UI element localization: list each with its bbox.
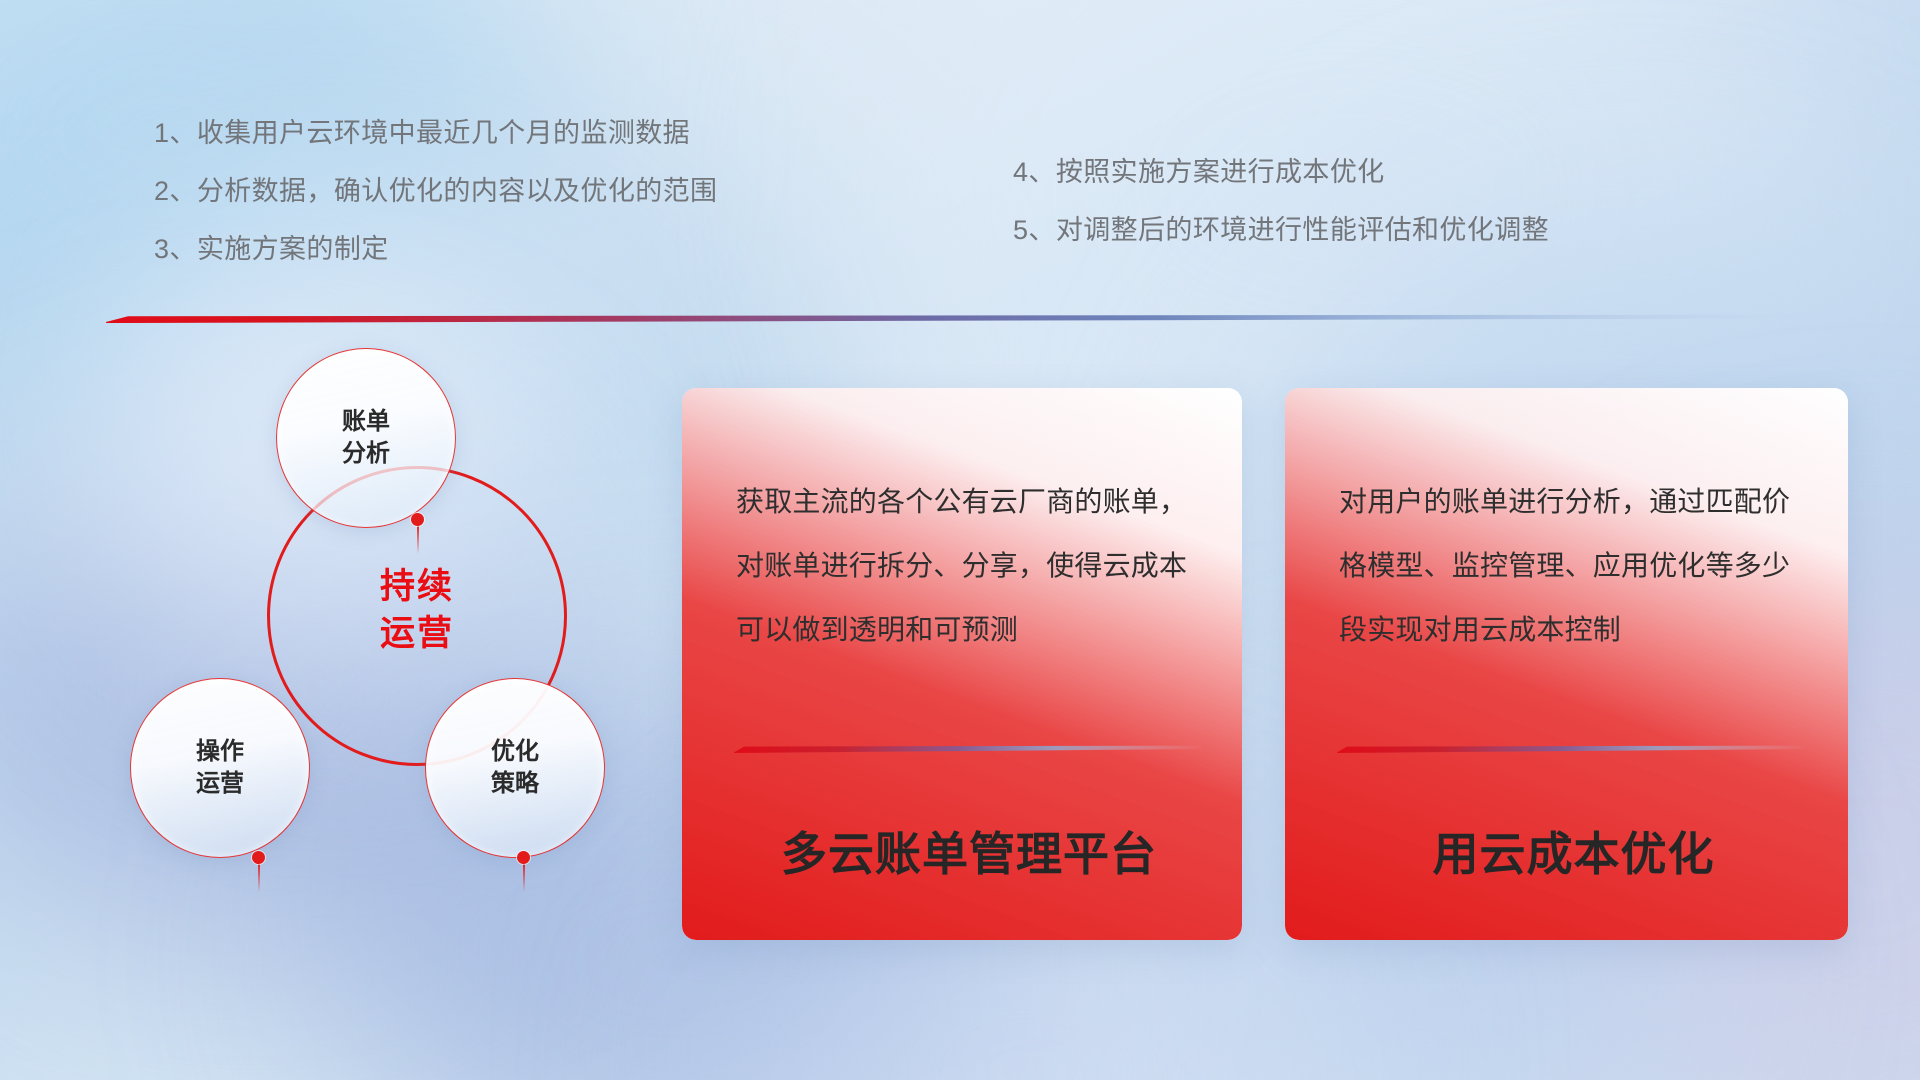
bubble-label-line-1: 操作: [196, 736, 244, 768]
process-step-5: 5、对调整后的环境进行性能评估和优化调整: [1013, 217, 1549, 244]
bubble-label-line-2: 分析: [342, 438, 390, 470]
card-accent-rule: [1337, 744, 1807, 753]
card-body-text: 获取主流的各个公有云厂商的账单，对账单进行拆分、分享，使得云成本可以做到透明和可…: [736, 470, 1196, 661]
connector-tail-top: [417, 524, 419, 554]
center-label-line-2: 运营: [267, 610, 567, 657]
process-step-4: 4、按照实施方案进行成本优化: [1013, 159, 1549, 186]
connector-dot-top: [411, 513, 424, 526]
connector-tail-left: [258, 862, 260, 892]
bubble-label-line-1: 账单: [342, 406, 390, 438]
process-step-3: 3、实施方案的制定: [154, 236, 717, 263]
connector-tail-right: [523, 862, 525, 892]
bubble-label-line-2: 策略: [491, 768, 539, 800]
card-title: 用云成本优化: [1339, 818, 1808, 884]
center-label-line-1: 持续: [267, 563, 567, 610]
diagram-center-label: 持续 运营: [267, 563, 567, 658]
process-steps-right-column: 4、按照实施方案进行成本优化 5、对调整后的环境进行性能评估和优化调整: [1013, 159, 1549, 275]
card-body-text: 对用户的账单进行分析，通过匹配价格模型、监控管理、应用优化等多少段实现对用云成本…: [1339, 470, 1802, 661]
connector-dot-left: [252, 851, 265, 864]
process-step-1: 1、收集用户云环境中最近几个月的监测数据: [154, 120, 717, 147]
bubble-operations[interactable]: 操作 运营: [130, 678, 310, 858]
card-multi-cloud-bill-platform[interactable]: 获取主流的各个公有云厂商的账单，对账单进行拆分、分享，使得云成本可以做到透明和可…: [682, 388, 1242, 940]
bubble-optimization-strategy[interactable]: 优化 策略: [425, 678, 605, 858]
card-cloud-cost-optimization[interactable]: 对用户的账单进行分析，通过匹配价格模型、监控管理、应用优化等多少段实现对用云成本…: [1285, 388, 1848, 940]
continuous-operations-diagram: 持续 运营 账单 分析 操作 运营 优化 策略: [100, 348, 660, 948]
card-title: 多云账单管理平台: [736, 818, 1202, 884]
bubble-bill-analysis[interactable]: 账单 分析: [276, 348, 456, 528]
section-divider: [106, 311, 1806, 323]
connector-dot-right: [517, 851, 530, 864]
bubble-label-line-2: 运营: [196, 768, 244, 800]
process-steps-left-column: 1、收集用户云环境中最近几个月的监测数据 2、分析数据，确认优化的内容以及优化的…: [154, 120, 717, 294]
process-step-2: 2、分析数据，确认优化的内容以及优化的范围: [154, 178, 717, 205]
bubble-label-line-1: 优化: [491, 736, 539, 768]
card-accent-rule: [734, 744, 1204, 753]
